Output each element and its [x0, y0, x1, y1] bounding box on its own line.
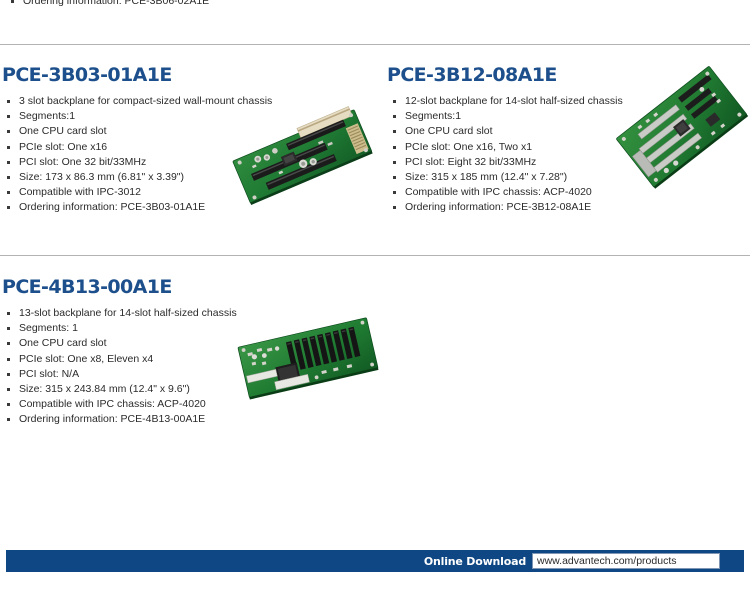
footer-url-text: www.advantech.com/products	[537, 555, 676, 567]
spec-text: PCIe slot: One x16	[19, 141, 107, 153]
bullet-square-icon	[7, 418, 10, 421]
spec-text: Compatible with IPC chassis: ACP-4020	[405, 186, 592, 198]
spec-text: PCIe slot: One x16, Two x1	[405, 141, 532, 153]
bullet-square-icon	[393, 206, 396, 209]
spec-text: Ordering information: PCE-3B12-08A1E	[405, 201, 591, 213]
pce-4b13-backplane-photo	[228, 306, 386, 410]
spec-item: Ordering information: PCE-3B06-02A1E	[8, 0, 209, 6]
bullet-square-icon	[393, 146, 396, 149]
bullet-square-icon	[7, 100, 10, 103]
bullet-square-icon	[7, 115, 10, 118]
bullet-square-icon	[393, 130, 396, 133]
bullet-square-icon	[393, 115, 396, 118]
bullet-square-icon	[393, 191, 396, 194]
footer-download-group: Online Download www.advantech.com/produc…	[424, 550, 720, 572]
spec-text: PCI slot: One 32 bit/33MHz	[19, 156, 146, 168]
product-title: PCE-4B13-00A1E	[0, 276, 380, 298]
bullet-square-icon	[393, 100, 396, 103]
spec-text: Compatible with IPC chassis: ACP-4020	[19, 398, 206, 410]
bullet-square-icon	[7, 312, 10, 315]
spec-text: PCI slot: Eight 32 bit/33MHz	[405, 156, 536, 168]
section-divider	[0, 44, 750, 45]
spec-item: Ordering information: PCE-4B13-00A1E	[4, 412, 380, 427]
bullet-square-icon	[7, 161, 10, 164]
bullet-square-icon	[393, 161, 396, 164]
spec-text: Segments:1	[405, 110, 461, 122]
partial-top-line: Ordering information: PCE-3B06-02A1E	[0, 0, 750, 6]
online-download-label: Online Download	[424, 555, 532, 568]
pce-3b03-backplane-photo	[222, 92, 380, 220]
spec-text: Size: 315 x 185 mm (12.4" x 7.28")	[405, 171, 567, 183]
spec-text: One CPU card slot	[405, 125, 493, 137]
bullet-square-icon	[393, 176, 396, 179]
spec-text: One CPU card slot	[19, 337, 107, 349]
bullet-square-icon	[11, 0, 14, 3]
spec-text: Compatible with IPC-3012	[19, 186, 141, 198]
section-divider	[0, 255, 750, 256]
spec-text: 12-slot backplane for 14-slot half-sized…	[405, 95, 623, 107]
bullet-square-icon	[7, 206, 10, 209]
pce-3b12-backplane-photo	[612, 60, 750, 192]
spec-text: PCIe slot: One x8, Eleven x4	[19, 353, 153, 365]
spec-text: Size: 315 x 243.84 mm (12.4" x 9.6")	[19, 383, 190, 395]
bullet-square-icon	[7, 373, 10, 376]
bullet-square-icon	[7, 388, 10, 391]
spec-text: One CPU card slot	[19, 125, 107, 137]
footer-bar: Online Download www.advantech.com/produc…	[6, 550, 744, 572]
spec-text: Ordering information: PCE-3B03-01A1E	[19, 201, 205, 213]
spec-item: Ordering information: PCE-3B12-08A1E	[390, 200, 750, 215]
spec-text: Ordering information: PCE-4B13-00A1E	[19, 413, 205, 425]
spec-text: Segments: 1	[19, 322, 78, 334]
spec-text: PCI slot: N/A	[19, 368, 79, 380]
spec-text: 13-slot backplane for 14-slot half-sized…	[19, 307, 237, 319]
bullet-square-icon	[7, 176, 10, 179]
product-title: PCE-3B03-01A1E	[0, 64, 380, 86]
bullet-square-icon	[7, 191, 10, 194]
bullet-square-icon	[7, 130, 10, 133]
bullet-square-icon	[7, 342, 10, 345]
spec-text: Segments:1	[19, 110, 75, 122]
footer-url-field[interactable]: www.advantech.com/products	[532, 553, 720, 569]
spec-text: Ordering information: PCE-3B06-02A1E	[23, 0, 209, 6]
bullet-square-icon	[7, 403, 10, 406]
bullet-square-icon	[7, 146, 10, 149]
bullet-square-icon	[7, 327, 10, 330]
bullet-square-icon	[7, 358, 10, 361]
spec-text: Size: 173 x 86.3 mm (6.81" x 3.39")	[19, 171, 184, 183]
